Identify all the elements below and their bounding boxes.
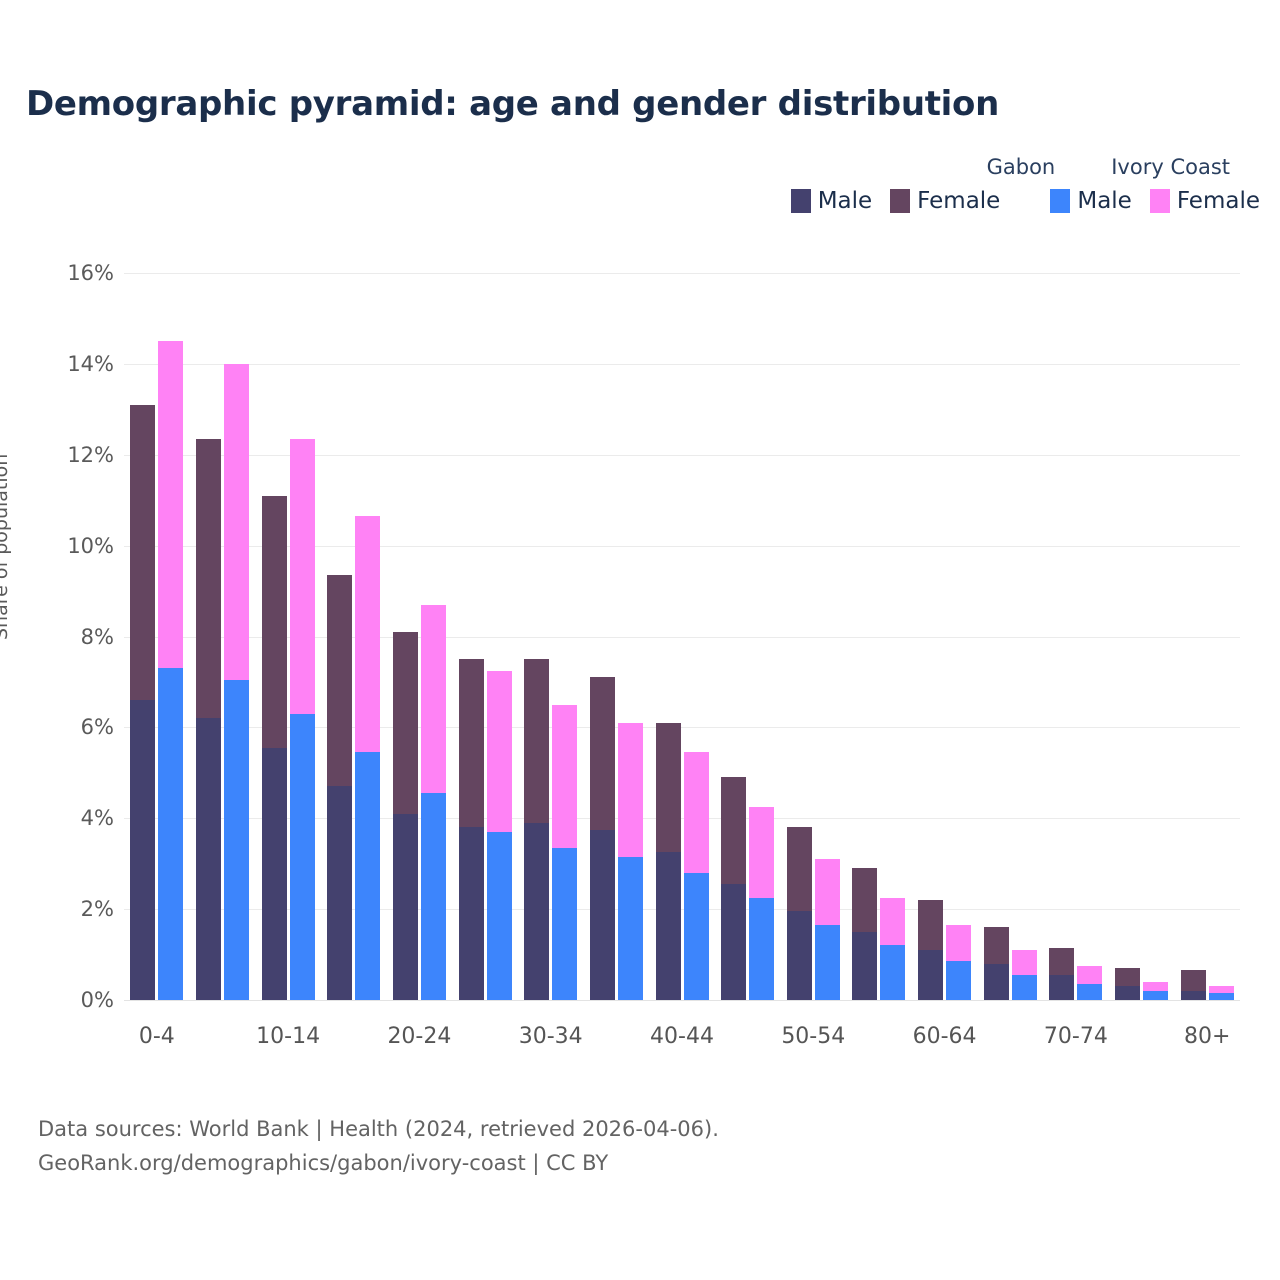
bar-ivory_coast-35-39[interactable] bbox=[618, 723, 643, 1000]
bar-gabon-35-39[interactable] bbox=[590, 677, 615, 1000]
x-axis-tick-0-4: 0-4 bbox=[139, 1024, 175, 1049]
bar-gabon-65-69[interactable] bbox=[984, 927, 1009, 1000]
bar-segment-gabon-female-5-9[interactable] bbox=[196, 439, 221, 718]
bar-segment-ivory_coast-male-10-14[interactable] bbox=[290, 714, 315, 1000]
bar-segment-ivory_coast-female-35-39[interactable] bbox=[618, 723, 643, 857]
bar-segment-ivory_coast-male-35-39[interactable] bbox=[618, 857, 643, 1000]
bar-segment-ivory_coast-male-75-79[interactable] bbox=[1143, 991, 1168, 1000]
y-axis-title: Share of population bbox=[0, 454, 12, 640]
bar-segment-ivory_coast-female-20-24[interactable] bbox=[421, 605, 446, 794]
bar-segment-gabon-male-80+[interactable] bbox=[1181, 991, 1206, 1000]
bar-ivory_coast-30-34[interactable] bbox=[552, 705, 577, 1000]
bar-segment-ivory_coast-female-5-9[interactable] bbox=[224, 364, 249, 680]
plot-canvas bbox=[124, 273, 1240, 1000]
bar-segment-ivory_coast-male-60-64[interactable] bbox=[946, 961, 971, 1000]
bar-segment-gabon-male-15-19[interactable] bbox=[327, 786, 352, 1000]
bar-segment-gabon-female-35-39[interactable] bbox=[590, 677, 615, 829]
bar-segment-gabon-male-60-64[interactable] bbox=[918, 950, 943, 1000]
bar-segment-ivory_coast-male-55-59[interactable] bbox=[880, 945, 905, 1000]
bar-segment-ivory_coast-female-10-14[interactable] bbox=[290, 439, 315, 714]
bar-ivory_coast-20-24[interactable] bbox=[421, 605, 446, 1000]
plot-area: Share of population 0%2%4%6%8%10%12%14%1… bbox=[0, 0, 1280, 1280]
bar-segment-ivory_coast-male-70-74[interactable] bbox=[1077, 984, 1102, 1000]
bar-ivory_coast-55-59[interactable] bbox=[880, 898, 905, 1000]
bar-segment-ivory_coast-male-5-9[interactable] bbox=[224, 680, 249, 1000]
bar-segment-ivory_coast-male-50-54[interactable] bbox=[815, 925, 840, 1000]
x-axis-tick-50-54: 50-54 bbox=[781, 1024, 845, 1049]
x-axis-tick-80+: 80+ bbox=[1184, 1024, 1230, 1049]
bar-segment-gabon-male-40-44[interactable] bbox=[656, 852, 681, 1000]
y-axis-tick-2%: 2% bbox=[24, 897, 114, 921]
bar-gabon-20-24[interactable] bbox=[393, 632, 418, 1000]
footer-line-2: GeoRank.org/demographics/gabon/ivory-coa… bbox=[38, 1146, 719, 1180]
bar-segment-ivory_coast-female-0-4[interactable] bbox=[158, 341, 183, 668]
bar-segment-gabon-female-55-59[interactable] bbox=[852, 868, 877, 932]
bar-segment-ivory_coast-female-60-64[interactable] bbox=[946, 925, 971, 961]
bar-segment-gabon-male-70-74[interactable] bbox=[1049, 975, 1074, 1000]
x-axis-tick-30-34: 30-34 bbox=[519, 1024, 583, 1049]
gridline-16% bbox=[124, 273, 1240, 274]
bar-segment-ivory_coast-female-70-74[interactable] bbox=[1077, 966, 1102, 984]
bar-gabon-45-49[interactable] bbox=[721, 777, 746, 1000]
bar-segment-ivory_coast-male-40-44[interactable] bbox=[684, 873, 709, 1000]
bar-segment-ivory_coast-male-45-49[interactable] bbox=[749, 898, 774, 1000]
bar-segment-gabon-female-80+[interactable] bbox=[1181, 970, 1206, 990]
bar-segment-ivory_coast-female-30-34[interactable] bbox=[552, 705, 577, 848]
bar-segment-gabon-female-70-74[interactable] bbox=[1049, 948, 1074, 975]
bar-ivory_coast-75-79[interactable] bbox=[1143, 982, 1168, 1000]
bar-segment-ivory_coast-male-80+[interactable] bbox=[1209, 993, 1234, 1000]
bar-segment-ivory_coast-male-15-19[interactable] bbox=[355, 752, 380, 1000]
bar-ivory_coast-40-44[interactable] bbox=[684, 752, 709, 1000]
y-axis-tick-14%: 14% bbox=[24, 352, 114, 376]
bar-segment-gabon-male-65-69[interactable] bbox=[984, 964, 1009, 1000]
footer-line-1: Data sources: World Bank | Health (2024,… bbox=[38, 1112, 719, 1146]
bar-ivory_coast-65-69[interactable] bbox=[1012, 950, 1037, 1000]
bar-segment-gabon-male-75-79[interactable] bbox=[1115, 986, 1140, 1000]
chart-page: Demographic pyramid: age and gender dist… bbox=[0, 0, 1280, 1280]
bar-ivory_coast-70-74[interactable] bbox=[1077, 966, 1102, 1000]
bar-segment-ivory_coast-female-75-79[interactable] bbox=[1143, 982, 1168, 991]
bar-segment-gabon-male-25-29[interactable] bbox=[459, 827, 484, 1000]
gridline-0% bbox=[124, 1000, 1240, 1001]
bar-segment-gabon-male-55-59[interactable] bbox=[852, 932, 877, 1000]
bar-segment-gabon-male-0-4[interactable] bbox=[130, 700, 155, 1000]
bar-gabon-30-34[interactable] bbox=[524, 659, 549, 1000]
bar-segment-gabon-female-0-4[interactable] bbox=[130, 405, 155, 700]
x-axis-tick-20-24: 20-24 bbox=[387, 1024, 451, 1049]
bar-segment-gabon-male-30-34[interactable] bbox=[524, 823, 549, 1000]
bar-gabon-60-64[interactable] bbox=[918, 900, 943, 1000]
bar-segment-gabon-female-50-54[interactable] bbox=[787, 827, 812, 911]
y-axis-tick-8%: 8% bbox=[24, 625, 114, 649]
bar-segment-ivory_coast-female-55-59[interactable] bbox=[880, 898, 905, 946]
bar-segment-gabon-male-35-39[interactable] bbox=[590, 830, 615, 1000]
bar-segment-gabon-male-45-49[interactable] bbox=[721, 884, 746, 1000]
bar-gabon-5-9[interactable] bbox=[196, 439, 221, 1000]
bar-segment-ivory_coast-male-65-69[interactable] bbox=[1012, 975, 1037, 1000]
bar-gabon-70-74[interactable] bbox=[1049, 948, 1074, 1000]
footer-credits: Data sources: World Bank | Health (2024,… bbox=[38, 1112, 719, 1180]
bar-segment-ivory_coast-male-0-4[interactable] bbox=[158, 668, 183, 1000]
bar-gabon-50-54[interactable] bbox=[787, 827, 812, 1000]
bar-gabon-25-29[interactable] bbox=[459, 659, 484, 1000]
bar-ivory_coast-5-9[interactable] bbox=[224, 364, 249, 1000]
bar-segment-ivory_coast-female-40-44[interactable] bbox=[684, 752, 709, 872]
y-axis-tick-0%: 0% bbox=[24, 988, 114, 1012]
y-axis-tick-10%: 10% bbox=[24, 534, 114, 558]
bar-ivory_coast-10-14[interactable] bbox=[290, 439, 315, 1000]
bar-gabon-55-59[interactable] bbox=[852, 868, 877, 1000]
bar-segment-ivory_coast-female-15-19[interactable] bbox=[355, 516, 380, 752]
bar-ivory_coast-25-29[interactable] bbox=[487, 671, 512, 1000]
bar-ivory_coast-80+[interactable] bbox=[1209, 986, 1234, 1000]
bar-segment-ivory_coast-female-65-69[interactable] bbox=[1012, 950, 1037, 975]
bar-segment-ivory_coast-male-30-34[interactable] bbox=[552, 848, 577, 1000]
x-axis-tick-70-74: 70-74 bbox=[1044, 1024, 1108, 1049]
x-axis-tick-60-64: 60-64 bbox=[913, 1024, 977, 1049]
bar-segment-gabon-male-20-24[interactable] bbox=[393, 814, 418, 1000]
bar-gabon-15-19[interactable] bbox=[327, 575, 352, 1000]
y-axis-tick-4%: 4% bbox=[24, 806, 114, 830]
bar-gabon-75-79[interactable] bbox=[1115, 968, 1140, 1000]
bar-ivory_coast-15-19[interactable] bbox=[355, 516, 380, 1000]
bar-ivory_coast-45-49[interactable] bbox=[749, 807, 774, 1000]
bar-segment-gabon-male-10-14[interactable] bbox=[262, 748, 287, 1000]
bar-segment-gabon-female-45-49[interactable] bbox=[721, 777, 746, 884]
x-axis-tick-40-44: 40-44 bbox=[650, 1024, 714, 1049]
bar-ivory_coast-60-64[interactable] bbox=[946, 925, 971, 1000]
bar-gabon-40-44[interactable] bbox=[656, 723, 681, 1000]
bar-ivory_coast-0-4[interactable] bbox=[158, 341, 183, 1000]
bar-segment-ivory_coast-female-80+[interactable] bbox=[1209, 986, 1234, 993]
bar-gabon-80+[interactable] bbox=[1181, 970, 1206, 1000]
bar-segment-gabon-female-25-29[interactable] bbox=[459, 659, 484, 827]
bar-segment-ivory_coast-female-45-49[interactable] bbox=[749, 807, 774, 898]
y-axis-tick-16%: 16% bbox=[24, 261, 114, 285]
bar-segment-gabon-female-20-24[interactable] bbox=[393, 632, 418, 814]
bar-segment-gabon-female-65-69[interactable] bbox=[984, 927, 1009, 963]
bar-gabon-0-4[interactable] bbox=[130, 405, 155, 1000]
bar-segment-gabon-male-5-9[interactable] bbox=[196, 718, 221, 1000]
bar-segment-gabon-male-50-54[interactable] bbox=[787, 911, 812, 1000]
x-axis-tick-10-14: 10-14 bbox=[256, 1024, 320, 1049]
bar-segment-ivory_coast-female-50-54[interactable] bbox=[815, 859, 840, 925]
bar-ivory_coast-50-54[interactable] bbox=[815, 859, 840, 1000]
y-axis-tick-12%: 12% bbox=[24, 443, 114, 467]
bar-segment-ivory_coast-male-20-24[interactable] bbox=[421, 793, 446, 1000]
bar-segment-gabon-female-15-19[interactable] bbox=[327, 575, 352, 786]
bar-segment-gabon-female-40-44[interactable] bbox=[656, 723, 681, 852]
bar-segment-gabon-female-75-79[interactable] bbox=[1115, 968, 1140, 986]
bar-segment-gabon-female-30-34[interactable] bbox=[524, 659, 549, 823]
bar-segment-ivory_coast-female-25-29[interactable] bbox=[487, 671, 512, 832]
bar-segment-ivory_coast-male-25-29[interactable] bbox=[487, 832, 512, 1000]
gridline-14% bbox=[124, 364, 1240, 365]
bar-segment-gabon-female-60-64[interactable] bbox=[918, 900, 943, 950]
bar-gabon-10-14[interactable] bbox=[262, 496, 287, 1000]
bar-segment-gabon-female-10-14[interactable] bbox=[262, 496, 287, 748]
y-axis-tick-6%: 6% bbox=[24, 715, 114, 739]
